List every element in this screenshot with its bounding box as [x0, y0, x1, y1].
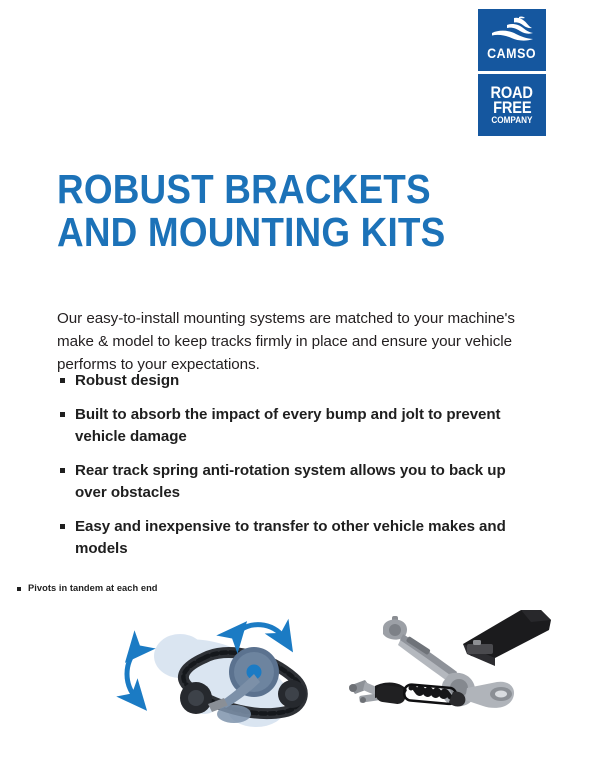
list-item: Rear track spring anti-rotation system a…: [57, 460, 527, 503]
square-bullet-icon: [17, 587, 21, 591]
intro-paragraph: Our easy-to-install mounting systems are…: [57, 307, 527, 376]
pivot-arrow-left: [127, 650, 136, 698]
page-title-line-1: ROBUST BRACKETS: [57, 168, 489, 211]
camso-chevron-mark-icon: [489, 15, 535, 45]
badge-line-free: FREE: [493, 100, 531, 116]
track-system-pivot-diagram: [108, 598, 343, 738]
badge-line-company: COMPANY: [491, 117, 532, 126]
square-bullet-icon: [60, 524, 65, 529]
page-title: ROBUST BRACKETS AND MOUNTING KITS: [57, 168, 537, 253]
page-title-line-2: AND MOUNTING KITS: [57, 211, 489, 254]
list-item: Easy and inexpensive to transfer to othe…: [57, 516, 527, 559]
list-item-label: Robust design: [75, 372, 179, 389]
list-item: Built to absorb the impact of every bump…: [57, 404, 527, 447]
camso-wordmark: CAMSO: [488, 47, 537, 61]
mounting-hardware-photo: [345, 596, 560, 736]
square-bullet-icon: [60, 412, 65, 417]
figure-caption: Pivots in tandem at each end: [16, 583, 158, 593]
square-bullet-icon: [60, 468, 65, 473]
road-free-company-badge: ROAD FREE COMPANY: [478, 74, 546, 136]
mounting-hardware-illustration: [345, 596, 560, 736]
feature-list: Robust design Built to absorb the impact…: [57, 370, 527, 559]
square-bullet-icon: [60, 378, 65, 383]
list-item-label: Rear track spring anti-rotation system a…: [75, 462, 506, 500]
track-system-illustration: [108, 598, 343, 738]
list-item: Robust design: [57, 370, 527, 391]
list-item-label: Built to absorb the impact of every bump…: [75, 406, 501, 444]
figure-caption-label: Pivots in tandem at each end: [28, 583, 158, 593]
pivot-arrow-top: [236, 625, 284, 638]
list-item-label: Easy and inexpensive to transfer to othe…: [75, 518, 506, 556]
page-canvas: CAMSO ROAD FREE COMPANY ROBUST BRACKETS …: [0, 0, 600, 767]
brand-logo-block: CAMSO ROAD FREE COMPANY: [478, 9, 546, 136]
black-mounting-bracket: [463, 610, 551, 666]
camso-logo: CAMSO: [478, 9, 546, 71]
